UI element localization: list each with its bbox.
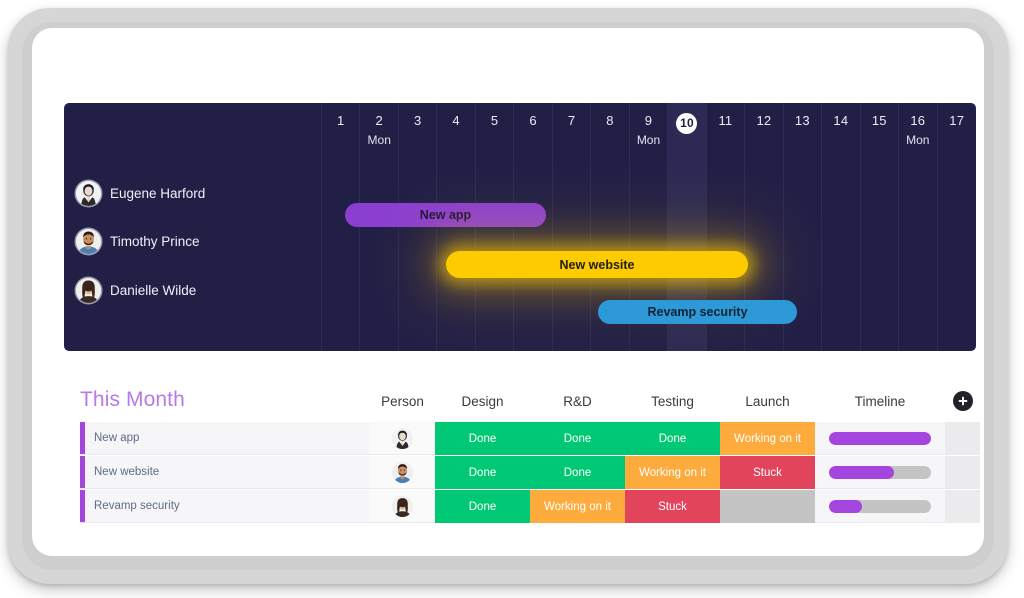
avatar-danielle xyxy=(392,496,413,517)
gantt-day-column-16[interactable]: 16Mon xyxy=(899,103,937,351)
table-row[interactable]: New website DoneDoneWorking on itStuck xyxy=(80,456,980,489)
avatar-timothy xyxy=(392,462,413,483)
cell-spacer xyxy=(945,456,980,489)
progress-track xyxy=(829,466,930,479)
progress-fill xyxy=(829,466,894,479)
gantt-day-column-1[interactable]: 1 xyxy=(322,103,360,351)
gantt-person-name: Timothy Prince xyxy=(110,234,200,249)
row-accent-bar xyxy=(80,490,85,522)
gantt-bar-purple[interactable]: New app xyxy=(345,203,546,227)
gantt-day-number: 7 xyxy=(553,113,590,128)
gantt-day-column-2[interactable]: 2Mon xyxy=(360,103,398,351)
page-title: This Month xyxy=(80,388,185,412)
task-name-label: New app xyxy=(94,432,139,444)
column-header-timeline[interactable]: Timeline xyxy=(815,394,945,409)
gantt-today-marker: 10 xyxy=(668,113,705,134)
avatar-danielle xyxy=(76,278,101,303)
cell-status-rnd[interactable]: Done xyxy=(530,422,625,455)
status-label: Working on it xyxy=(639,467,706,479)
gantt-day-column-6[interactable]: 6 xyxy=(514,103,552,351)
status-label: Done xyxy=(564,467,592,479)
gantt-day-number: 1 xyxy=(322,113,359,128)
gantt-day-number: 17 xyxy=(938,113,976,128)
status-label: Stuck xyxy=(658,501,687,513)
gantt-bar-label: New app xyxy=(420,208,471,222)
gantt-day-number: 4 xyxy=(437,113,474,128)
gantt-bar-blue[interactable]: Revamp security xyxy=(598,300,797,324)
gantt-day-number: 6 xyxy=(514,113,551,128)
avatar-eugene xyxy=(392,428,413,449)
cell-status-rnd[interactable]: Working on it xyxy=(530,490,625,523)
gantt-day-number: 15 xyxy=(861,113,898,128)
today-pill: 10 xyxy=(676,113,697,134)
gantt-day-column-4[interactable]: 4 xyxy=(437,103,475,351)
status-label: Done xyxy=(469,501,497,513)
cell-status-testing[interactable]: Working on it xyxy=(625,456,720,489)
cell-person[interactable] xyxy=(370,456,435,489)
column-header-launch[interactable]: Launch xyxy=(720,394,815,409)
gantt-day-number: 13 xyxy=(784,113,821,128)
avatar-timothy xyxy=(76,229,101,254)
board-section: This Month PersonDesignR&DTestingLaunchT… xyxy=(80,388,980,523)
cell-status-design[interactable]: Done xyxy=(435,422,530,455)
gantt-person-name: Eugene Harford xyxy=(110,186,205,201)
gantt-day-column-17[interactable]: 17 xyxy=(938,103,976,351)
status-label: Done xyxy=(469,467,497,479)
cell-task-name[interactable]: Revamp security xyxy=(80,490,370,523)
gantt-day-of-week: Mon xyxy=(360,133,397,147)
cell-timeline[interactable] xyxy=(815,490,945,523)
gantt-day-column-3[interactable]: 3 xyxy=(399,103,437,351)
gantt-day-number: 5 xyxy=(476,113,513,128)
cell-spacer xyxy=(945,490,980,523)
cell-timeline[interactable] xyxy=(815,456,945,489)
cell-spacer xyxy=(945,422,980,455)
cell-status-launch[interactable]: Working on it xyxy=(720,422,815,455)
gantt-day-column-14[interactable]: 14 xyxy=(822,103,860,351)
gantt-person[interactable]: Eugene Harford xyxy=(76,176,205,210)
gantt-bar-label: New website xyxy=(559,258,634,272)
cell-status-launch[interactable] xyxy=(720,490,815,523)
progress-fill xyxy=(829,432,930,445)
gantt-bar-label: Revamp security xyxy=(647,305,747,319)
device-bezel: 12Mon3456789Mon10111213141516Mon17 Eugen… xyxy=(8,8,1008,584)
status-label: Done xyxy=(469,433,497,445)
row-accent-bar xyxy=(80,456,85,488)
app-screen: 12Mon3456789Mon10111213141516Mon17 Eugen… xyxy=(32,28,984,556)
gantt-day-number: 11 xyxy=(707,113,744,128)
gantt-day-number: 16 xyxy=(899,113,936,128)
gantt-day-grid: 12Mon3456789Mon10111213141516Mon17 xyxy=(64,103,976,351)
gantt-day-column-7[interactable]: 7 xyxy=(553,103,591,351)
status-label: Working on it xyxy=(734,433,801,445)
gantt-day-column-5[interactable]: 5 xyxy=(476,103,514,351)
gantt-day-number: 14 xyxy=(822,113,859,128)
gantt-day-number: 12 xyxy=(745,113,782,128)
cell-status-design[interactable]: Done xyxy=(435,490,530,523)
column-header-rnd[interactable]: R&D xyxy=(530,394,625,409)
cell-status-design[interactable]: Done xyxy=(435,456,530,489)
add-column-button[interactable] xyxy=(953,391,973,411)
cell-person[interactable] xyxy=(370,490,435,523)
status-label: Stuck xyxy=(753,467,782,479)
gantt-person[interactable]: Timothy Prince xyxy=(76,224,200,258)
gantt-bar-yellow[interactable]: New website xyxy=(446,251,748,278)
board-rows: New app DoneDoneDoneWorking on itNew web… xyxy=(80,422,980,523)
row-accent-bar xyxy=(80,422,85,454)
gantt-day-column-15[interactable]: 15 xyxy=(861,103,899,351)
progress-track xyxy=(829,432,930,445)
cell-status-testing[interactable]: Stuck xyxy=(625,490,720,523)
gantt-day-number: 9 xyxy=(630,113,667,128)
task-name-label: Revamp security xyxy=(94,500,180,512)
gantt-person[interactable]: Danielle Wilde xyxy=(76,273,196,307)
cell-task-name[interactable]: New website xyxy=(80,456,370,489)
gantt-person-name: Danielle Wilde xyxy=(110,283,196,298)
cell-person[interactable] xyxy=(370,422,435,455)
gantt-day-of-week: Mon xyxy=(899,133,936,147)
status-label: Working on it xyxy=(544,501,611,513)
gantt-day-of-week: Mon xyxy=(630,133,667,147)
board-header: This Month PersonDesignR&DTestingLaunchT… xyxy=(80,388,980,422)
status-label: Done xyxy=(659,433,687,445)
cell-timeline[interactable] xyxy=(815,422,945,455)
avatar-eugene xyxy=(76,181,101,206)
gantt-day-number: 8 xyxy=(591,113,628,128)
cell-status-rnd[interactable]: Done xyxy=(530,456,625,489)
column-header-testing[interactable]: Testing xyxy=(625,394,720,409)
cell-task-name[interactable]: New app xyxy=(80,422,370,455)
column-header-design[interactable]: Design xyxy=(435,394,530,409)
gantt-panel: 12Mon3456789Mon10111213141516Mon17 Eugen… xyxy=(64,103,976,351)
status-label: Done xyxy=(564,433,592,445)
column-header-person[interactable]: Person xyxy=(370,394,435,409)
cell-status-launch[interactable]: Stuck xyxy=(720,456,815,489)
cell-status-testing[interactable]: Done xyxy=(625,422,720,455)
progress-fill xyxy=(829,500,861,513)
table-row[interactable]: New app DoneDoneDoneWorking on it xyxy=(80,422,980,455)
gantt-day-number: 2 xyxy=(360,113,397,128)
table-row[interactable]: Revamp security DoneWorking on itStuck xyxy=(80,490,980,523)
task-name-label: New website xyxy=(94,466,159,478)
gantt-day-number: 3 xyxy=(399,113,436,128)
progress-track xyxy=(829,500,930,513)
